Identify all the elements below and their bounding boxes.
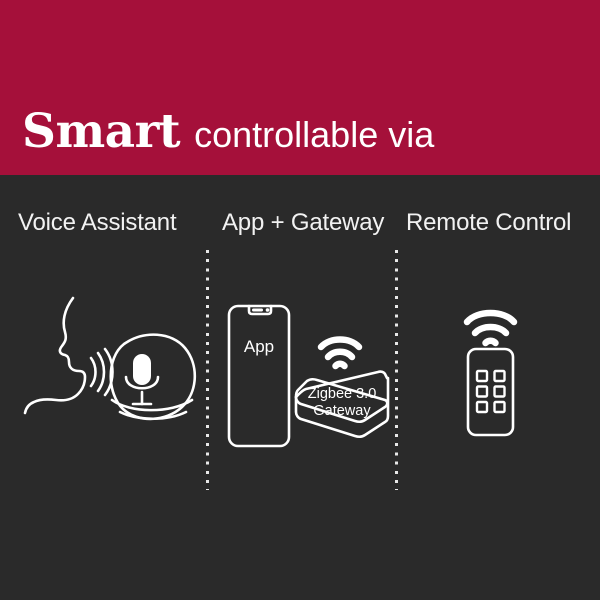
microphone-icon [126,354,158,404]
dotted-divider-left [206,250,209,490]
gateway-label-line2: Gateway [313,403,371,419]
remote-button [477,371,487,381]
smartphone-icon [229,306,289,446]
voice-assistant-illustration [20,280,205,450]
wifi-signal-icon [321,340,359,367]
page-title: Smart controllable via [22,108,434,155]
remote-button [495,371,505,381]
sound-wave-icon [91,349,113,395]
remote-button [495,387,505,397]
headline-strong-word: Smart [22,108,180,155]
remote-button [477,402,487,412]
column-label-remote-control: Remote Control [406,209,571,237]
remote-button [495,402,505,412]
header-band: Smart controllable via [0,0,600,175]
headline-light-phrase: controllable via [194,117,434,153]
infographic-page: Smart controllable via Voice Assistant A… [0,0,600,600]
remote-button [477,387,487,397]
gateway-label-line1: Zigbee 3.0 [308,386,377,402]
wifi-signal-icon [467,313,514,343]
app-gateway-illustration: App Zigbee 3.0 Gateway [225,290,390,448]
dotted-divider-right [395,250,398,490]
phone-app-label: App [244,337,274,356]
remote-button-grid [477,371,505,412]
column-label-voice-assistant: Voice Assistant [18,209,176,237]
smart-speaker-icon [111,335,195,419]
remote-body-icon [468,349,513,435]
remote-control-illustration [440,300,550,442]
face-profile-icon [25,298,85,413]
column-label-app-gateway: App + Gateway [222,209,384,237]
